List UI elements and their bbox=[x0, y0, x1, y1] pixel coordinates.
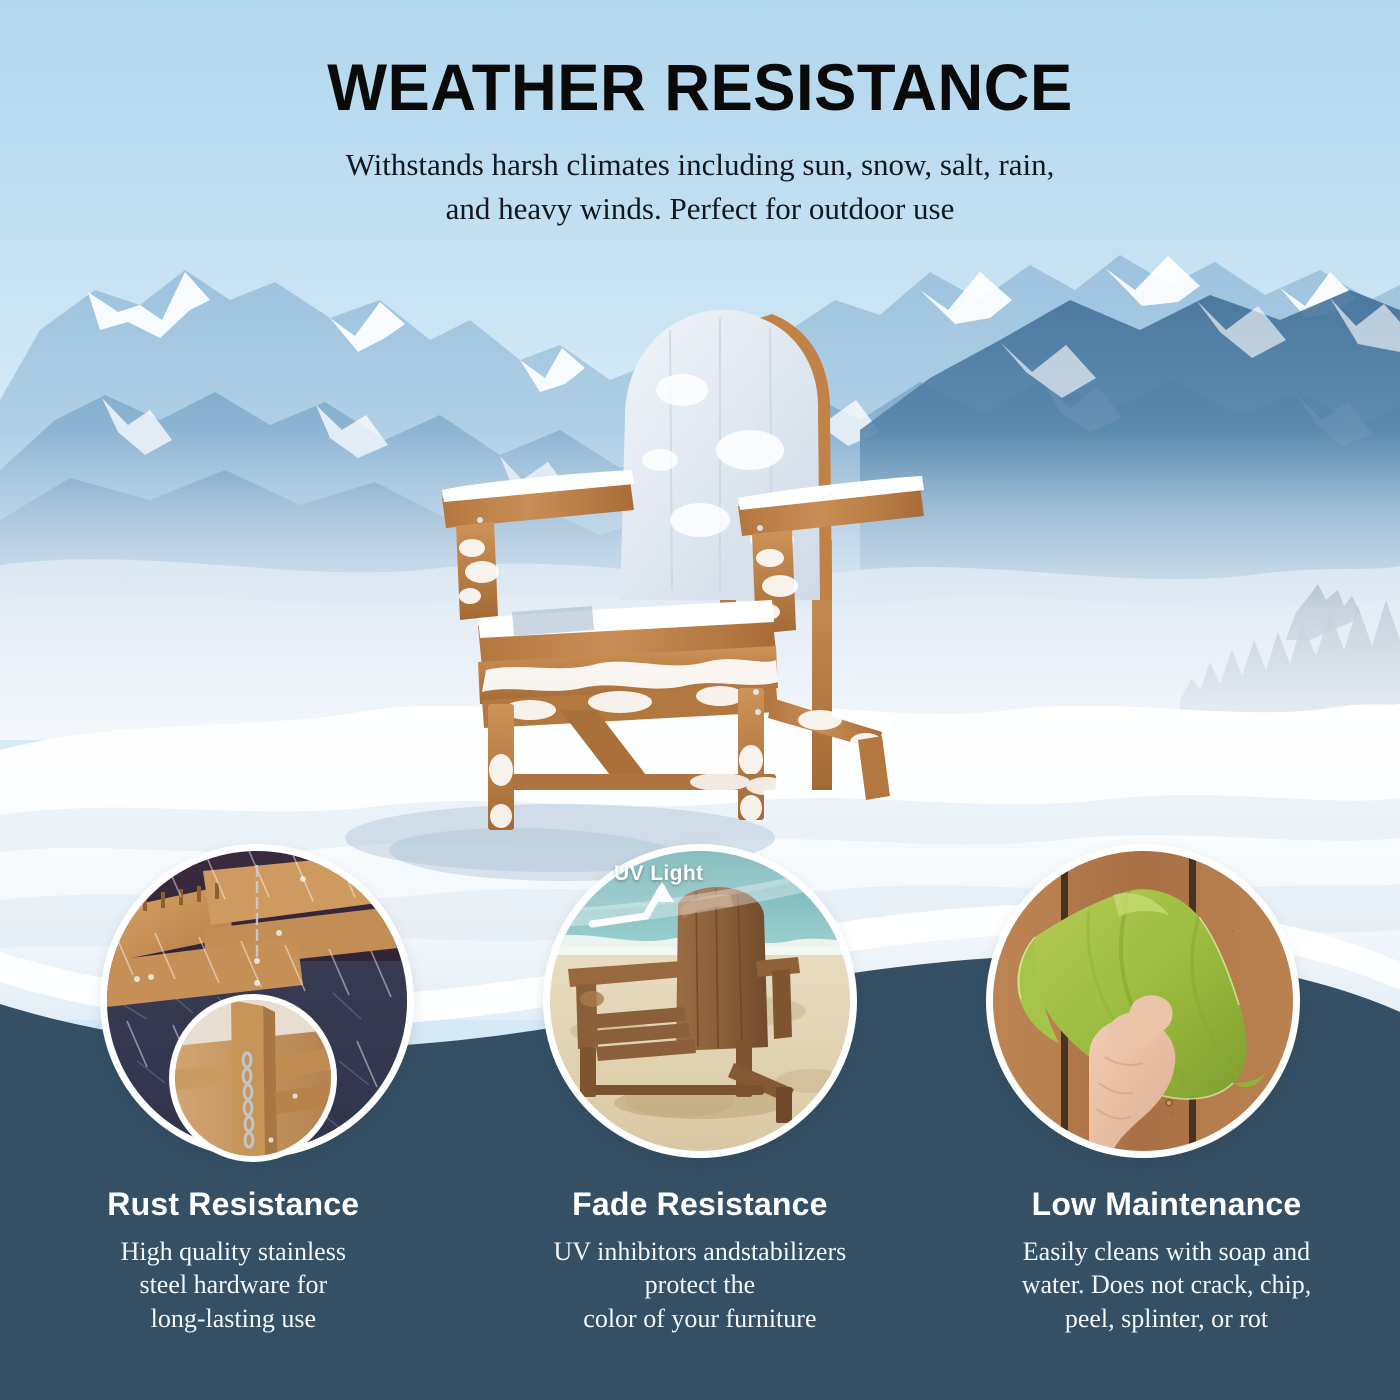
feature-desc-line: UV inhibitors andstabilizers bbox=[485, 1235, 916, 1268]
feature-desc-line: protect the bbox=[485, 1268, 916, 1301]
uv-light-label: UV Light bbox=[614, 862, 704, 886]
feature-rust-resistance: Rust Resistance High quality stainless s… bbox=[0, 1186, 467, 1400]
feature-title-fade-resistance: Fade Resistance bbox=[485, 1186, 916, 1223]
feature-inset-image-stainless-chain bbox=[175, 1000, 331, 1156]
page-subtitle: Withstands harsh climates including sun,… bbox=[250, 143, 1150, 231]
feature-description-low-maintenance: Easily cleans with soap and water. Does … bbox=[951, 1235, 1382, 1335]
subtitle-line-1: Withstands harsh climates including sun,… bbox=[250, 143, 1150, 187]
feature-desc-line: steel hardware for bbox=[18, 1268, 449, 1301]
feature-description-fade-resistance: UV inhibitors andstabilizers protect the… bbox=[485, 1235, 916, 1335]
page-title: WEATHER RESISTANCE bbox=[28, 54, 1372, 121]
feature-low-maintenance: Low Maintenance Easily cleans with soap … bbox=[933, 1186, 1400, 1400]
feature-desc-line: color of your furniture bbox=[485, 1302, 916, 1335]
uv-light-arrow-icon bbox=[588, 880, 718, 940]
feature-desc-line: water. Does not crack, chip, bbox=[951, 1268, 1382, 1301]
feature-desc-line: long-lasting use bbox=[18, 1302, 449, 1335]
header-block: WEATHER RESISTANCE Withstands harsh clim… bbox=[0, 54, 1400, 231]
feature-image-low-maintenance bbox=[993, 851, 1293, 1151]
feature-desc-line: High quality stainless bbox=[18, 1235, 449, 1268]
feature-desc-line: Easily cleans with soap and bbox=[951, 1235, 1382, 1268]
feature-fade-resistance: Fade Resistance UV inhibitors andstabili… bbox=[467, 1186, 934, 1400]
feature-description-rust-resistance: High quality stainless steel hardware fo… bbox=[18, 1235, 449, 1335]
feature-text-row: Rust Resistance High quality stainless s… bbox=[0, 1186, 1400, 1400]
feature-title-rust-resistance: Rust Resistance bbox=[18, 1186, 449, 1223]
weather-resistance-infographic: UV Light WEATHER RESISTANCE Withstands h… bbox=[0, 0, 1400, 1400]
feature-desc-line: peel, splinter, or rot bbox=[951, 1302, 1382, 1335]
subtitle-line-2: and heavy winds. Perfect for outdoor use bbox=[250, 187, 1150, 231]
feature-title-low-maintenance: Low Maintenance bbox=[951, 1186, 1382, 1223]
